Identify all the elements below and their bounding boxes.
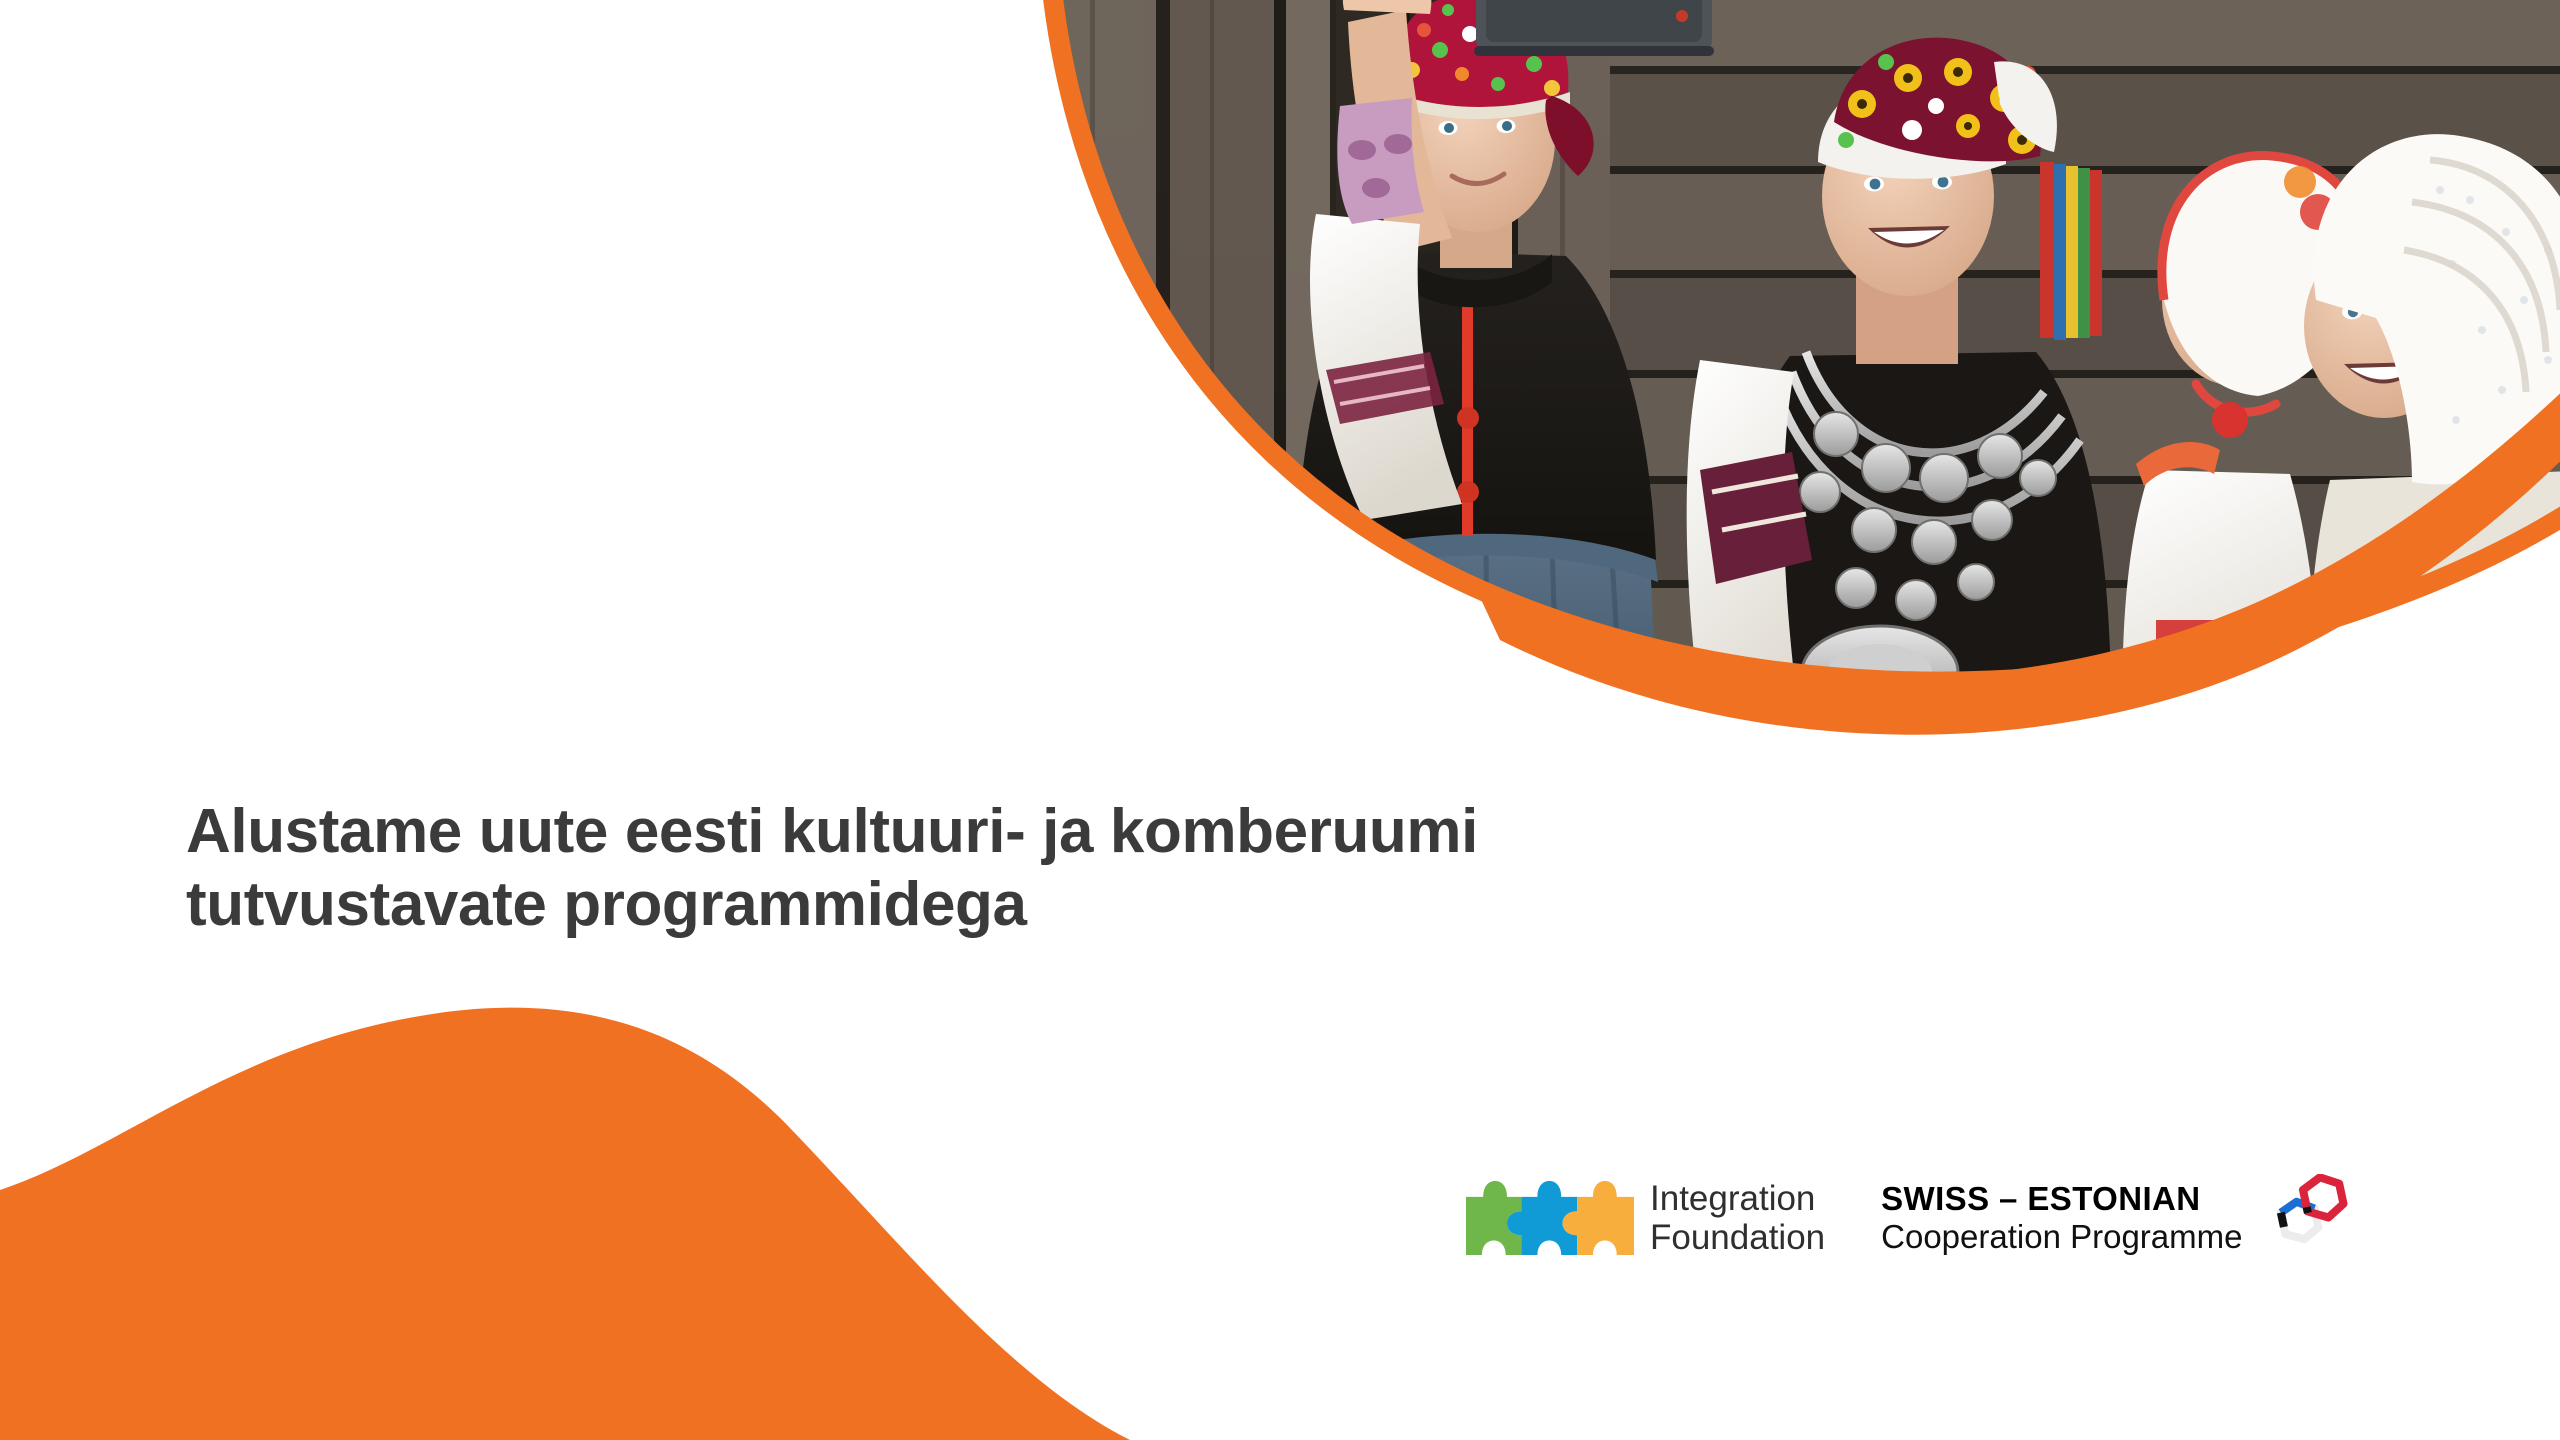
- if-text-line-1: Integration: [1650, 1179, 1825, 1218]
- swiss-estonian-wordmark: SWISS – ESTONIAN Cooperation Programme: [1881, 1180, 2242, 1255]
- hero-photo-svg: [0, 0, 2560, 780]
- slide-title: Alustame uute eesti kultuuri- ja komberu…: [186, 795, 1986, 941]
- title-line-1: Alustame uute eesti kultuuri- ja komberu…: [186, 795, 1986, 868]
- folk-costume-photograph: [1000, 0, 2560, 780]
- se-text-line-1: SWISS – ESTONIAN: [1881, 1180, 2242, 1218]
- se-text-line-2: Cooperation Programme: [1881, 1218, 2242, 1256]
- bottom-orange-blob: [0, 1008, 1130, 1440]
- hero-image-region: [0, 0, 2560, 780]
- hero-orange-wave: [1470, 384, 2560, 735]
- logo-bar: Integration Foundation SWISS – ESTONIAN …: [1464, 1163, 2382, 1273]
- title-line-2: tutvustavate programmidega: [186, 868, 1986, 941]
- integration-foundation-logo: Integration Foundation: [1464, 1177, 1825, 1259]
- if-text-line-2: Foundation: [1650, 1218, 1825, 1257]
- hero-curve-outline: [1052, 0, 2560, 682]
- integration-foundation-wordmark: Integration Foundation: [1650, 1179, 1825, 1257]
- puzzle-pieces-icon: [1464, 1177, 1636, 1259]
- swiss-estonian-logo: SWISS – ESTONIAN Cooperation Programme: [1881, 1174, 2356, 1262]
- presentation-slide: Alustame uute eesti kultuuri- ja komberu…: [0, 0, 2560, 1440]
- interlocking-hexagons-icon: [2268, 1174, 2356, 1262]
